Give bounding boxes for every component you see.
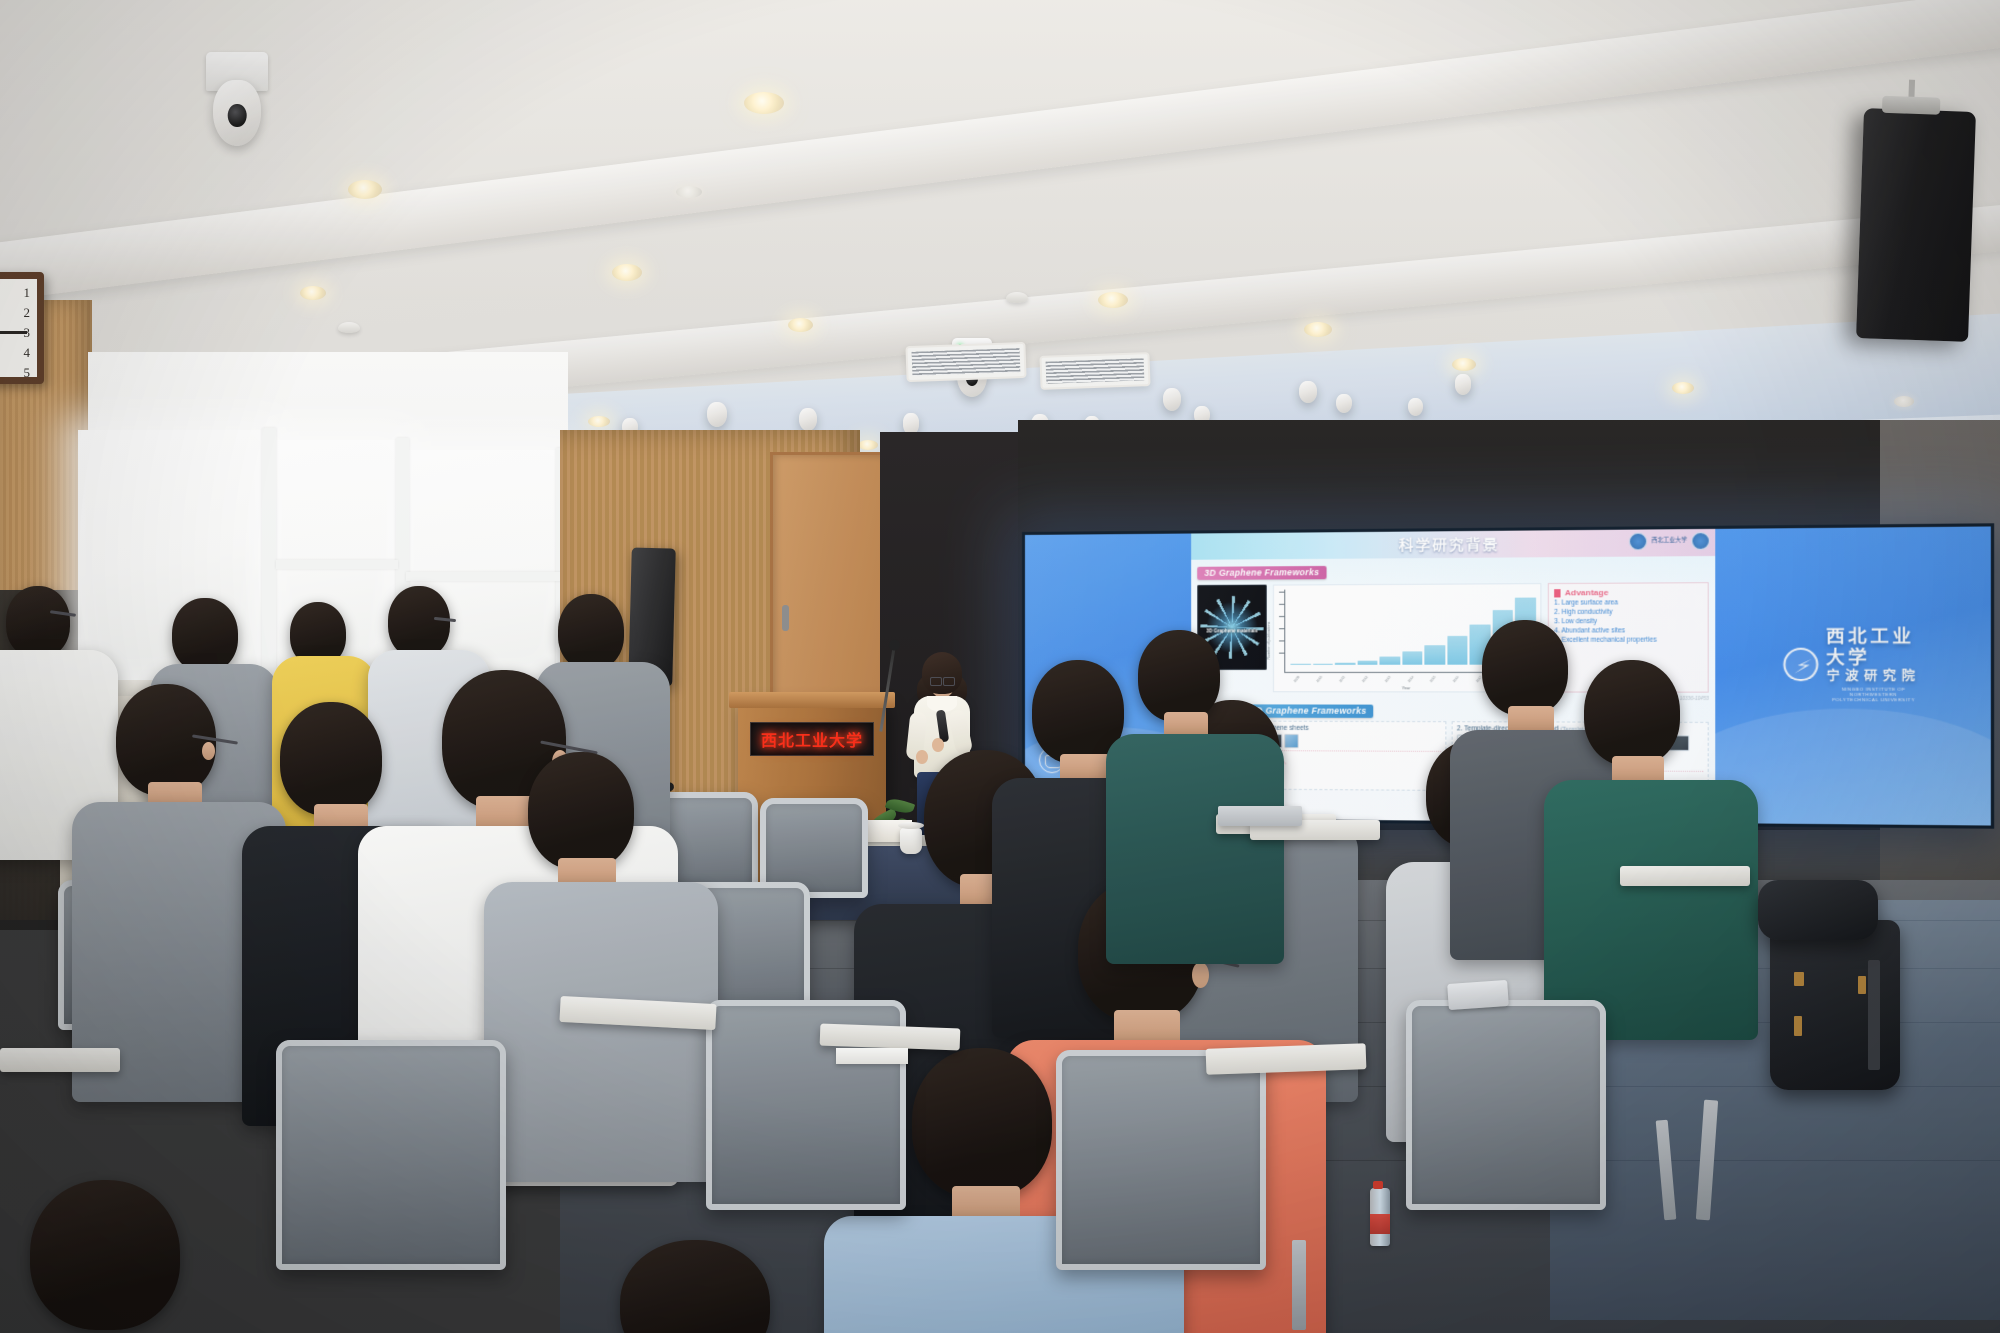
smartphone[interactable]	[1447, 980, 1509, 1010]
dome-camera-icon	[796, 398, 820, 430]
downlight	[858, 440, 878, 450]
institute-seal-icon	[1691, 532, 1709, 550]
dome-camera-icon	[900, 404, 922, 434]
slide-title: 科学研究背景	[1399, 534, 1500, 555]
npu-seal-icon	[1783, 647, 1818, 681]
npu-logo: 西北工业大学 宁波研究院 NINGBO INSTITUTE OF NORTHWE…	[1783, 626, 1921, 702]
advantage-title: Advantage	[1565, 588, 1609, 598]
dome-camera-icon	[1160, 378, 1184, 410]
chart-y-axis	[1284, 590, 1285, 673]
audience-member	[1560, 650, 1740, 1030]
presenter-glasses	[930, 677, 955, 684]
chair[interactable]	[1406, 1000, 1606, 1210]
downlight	[788, 318, 813, 332]
ceiling-air-vent	[905, 342, 1026, 382]
chart-bar	[1357, 661, 1377, 665]
university-seal-icon	[1629, 533, 1647, 551]
downlight	[1304, 322, 1332, 337]
audience-member	[600, 1240, 840, 1333]
ceiling-speaker	[1856, 108, 1976, 342]
lecture-hall-photo: 1 2 3 4 5 宁波研究生学术节 Ningbo Postgraduate A…	[0, 0, 2000, 1333]
dome-camera-icon	[1296, 372, 1320, 402]
chart-bar	[1402, 651, 1422, 664]
audience-member	[1120, 620, 1270, 950]
dome-camera-icon	[704, 392, 730, 426]
chart-bar	[1313, 664, 1333, 665]
npu-logo-cn2: 宁波研究院	[1826, 669, 1921, 684]
backpack	[1770, 920, 1900, 1090]
downlight	[348, 180, 382, 199]
dome-camera-icon	[1406, 390, 1425, 415]
chart-bar	[1380, 657, 1400, 665]
notebook	[836, 1048, 908, 1064]
downlight	[612, 264, 642, 281]
dome-camera-icon	[1334, 386, 1354, 412]
podium-led-text: 西北工业大学	[761, 727, 863, 751]
audience-member	[500, 740, 700, 1160]
slide-header-logo-text: 西北工业大学	[1651, 538, 1687, 545]
downlight	[1098, 292, 1128, 308]
water-bottle	[1370, 1188, 1390, 1246]
window-transom	[276, 560, 398, 569]
tablet-arm-desk	[1620, 866, 1750, 886]
downlight	[744, 92, 784, 114]
chair[interactable]	[276, 1040, 506, 1270]
downlight	[588, 416, 610, 427]
npu-logo-cn1: 西北工业大学	[1826, 626, 1914, 667]
downlight	[676, 186, 702, 198]
downlight	[1672, 382, 1694, 394]
npu-logo-en: NINGBO INSTITUTE OF NORTHWESTERN POLYTEC…	[1826, 686, 1921, 702]
wall-clock: 1 2 3 4 5	[0, 272, 44, 384]
slide-header-logos: 西北工业大学	[1629, 532, 1710, 550]
slide-right-panel: 西北工业大学 宁波研究院 NINGBO INSTITUTE OF NORTHWE…	[1715, 526, 1991, 825]
section-tag-frameworks: 3D Graphene Frameworks	[1197, 565, 1326, 579]
audience-member	[0, 1180, 280, 1333]
smoke-detector-icon	[338, 322, 360, 333]
slide-title-bar: 科学研究背景 西北工业大学	[1191, 529, 1715, 560]
bullet-square-icon	[1554, 589, 1560, 597]
tablet-arm-desk	[0, 1048, 120, 1072]
chart-bar	[1425, 645, 1445, 665]
chart-bar	[1290, 664, 1310, 665]
backpack	[1758, 880, 1878, 940]
downlight	[300, 286, 326, 300]
ceiling-air-vent	[1039, 352, 1150, 390]
chart-xlabel: Year	[1402, 685, 1410, 690]
chair-leg	[1292, 1240, 1306, 1330]
chair[interactable]	[1056, 1050, 1266, 1270]
chart-bar	[1335, 663, 1355, 665]
audience-member	[96, 670, 266, 1090]
ptz-camera-icon	[206, 52, 268, 144]
dome-camera-icon	[1452, 366, 1474, 394]
podium-led-sign: 西北工业大学	[750, 722, 874, 756]
advantage-header: Advantage	[1554, 587, 1702, 597]
downlight	[1894, 396, 1914, 407]
smoke-detector-icon	[1006, 292, 1028, 303]
laptop[interactable]	[1218, 806, 1302, 826]
door-handle[interactable]	[782, 605, 789, 631]
